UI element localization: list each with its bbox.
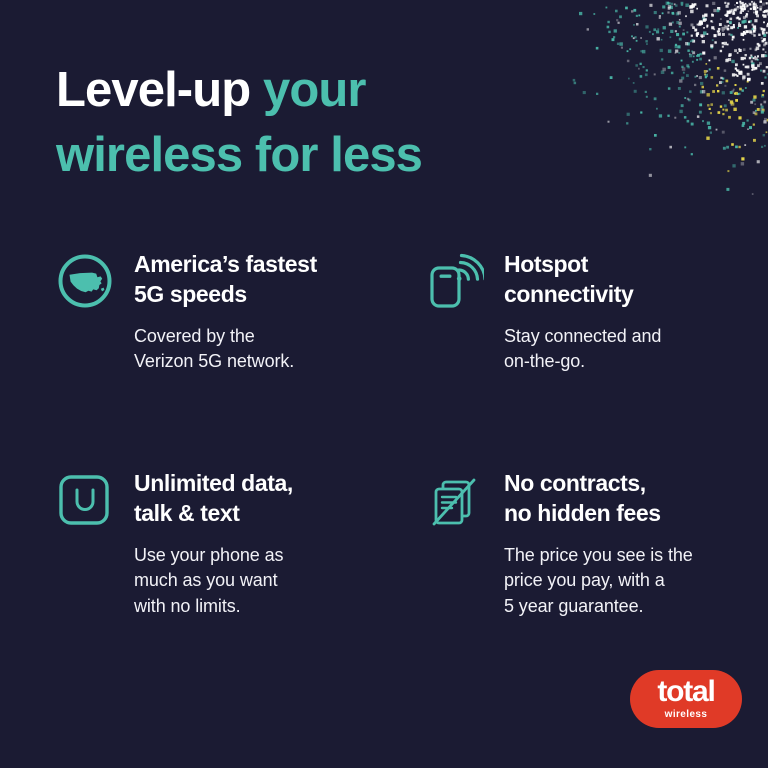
feature-title-line1: Unlimited data, [134, 470, 293, 496]
no-contract-documents-icon [426, 471, 484, 529]
headline-line1-accent: your [263, 63, 366, 117]
feature-item-unlimited: Unlimited data, talk & text Use your pho… [56, 467, 426, 619]
logo-wordmark: total [657, 677, 714, 707]
page-title: Level-up your wireless for less [56, 58, 576, 188]
feature-title-line2: connectivity [504, 281, 633, 307]
headline-line1-white: Level-up [56, 63, 263, 117]
feature-title: Unlimited data, talk & text [134, 469, 426, 529]
feature-desc-line3: with no limits. [134, 596, 241, 616]
feature-title: No contracts, no hidden fees [504, 469, 756, 529]
feature-title-line2: no hidden fees [504, 500, 661, 526]
feature-item-no-contracts: No contracts, no hidden fees The price y… [426, 467, 756, 619]
feature-desc-line2: Verizon 5G network. [134, 351, 294, 371]
feature-description: Covered by the Verizon 5G network. [134, 324, 426, 375]
unlimited-u-square-icon [56, 471, 114, 529]
feature-title-line2: talk & text [134, 500, 240, 526]
feature-text-hotspot: Hotspot connectivity Stay connected and … [504, 248, 756, 375]
feature-description: Stay connected and on-the-go. [504, 324, 756, 375]
feature-title-line1: America’s fastest [134, 251, 317, 277]
feature-text-5g-speeds: America’s fastest 5G speeds Covered by t… [134, 248, 426, 375]
logo-subtext: wireless [665, 710, 708, 720]
feature-desc-line1: Use your phone as [134, 545, 283, 565]
feature-desc-line3: 5 year guarantee. [504, 596, 643, 616]
feature-text-unlimited: Unlimited data, talk & text Use your pho… [134, 467, 426, 619]
feature-item-5g-speeds: America’s fastest 5G speeds Covered by t… [56, 248, 426, 375]
feature-desc-line1: The price you see is the [504, 545, 693, 565]
headline-line2-accent: wireless for less [56, 128, 422, 182]
feature-title-line1: No contracts, [504, 470, 646, 496]
feature-text-no-contracts: No contracts, no hidden fees The price y… [504, 467, 756, 619]
feature-title: America’s fastest 5G speeds [134, 250, 426, 310]
hotspot-phone-signal-icon [426, 252, 484, 310]
promotional-poster: Level-up your wireless for less America’… [0, 0, 768, 768]
feature-desc-line2: price you pay, with a [504, 570, 665, 590]
feature-desc-line2: on-the-go. [504, 351, 585, 371]
feature-description: Use your phone as much as you want with … [134, 543, 426, 620]
feature-grid: America’s fastest 5G speeds Covered by t… [56, 248, 756, 619]
total-wireless-logo: total wireless [630, 670, 742, 728]
feature-desc-line1: Covered by the [134, 326, 255, 346]
feature-desc-line1: Stay connected and [504, 326, 661, 346]
feature-desc-line2: much as you want [134, 570, 277, 590]
feature-title-line1: Hotspot [504, 251, 588, 277]
feature-description: The price you see is the price you pay, … [504, 543, 756, 620]
feature-item-hotspot: Hotspot connectivity Stay connected and … [426, 248, 756, 375]
feature-title: Hotspot connectivity [504, 250, 756, 310]
us-map-circle-icon [56, 252, 114, 310]
feature-title-line2: 5G speeds [134, 281, 247, 307]
